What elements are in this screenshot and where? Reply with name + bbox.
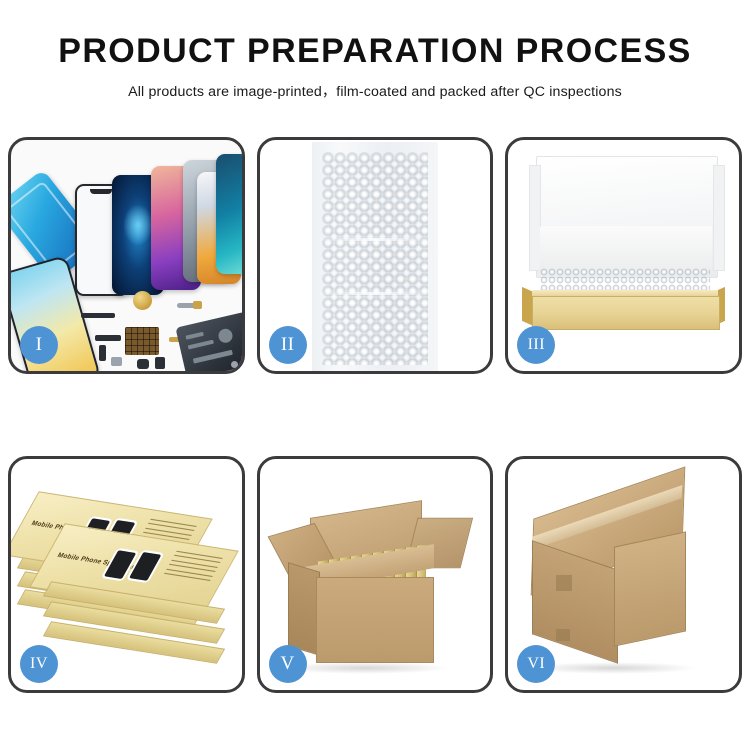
small-bracket-part-icon bbox=[99, 345, 106, 361]
page-subtitle: All products are image-printed，film-coat… bbox=[0, 81, 750, 101]
bubble-wrap-sleeve bbox=[312, 142, 438, 371]
camera-part-icon bbox=[137, 359, 149, 369]
page-title: PRODUCT PREPARATION PROCESS bbox=[0, 34, 750, 70]
spare-parts-group bbox=[81, 295, 241, 371]
wrap-seam-upper bbox=[320, 238, 430, 241]
sealed-shipping-carton bbox=[526, 489, 724, 675]
step-panel-2: II bbox=[257, 137, 494, 374]
box-front-kraft bbox=[532, 296, 720, 330]
step-panel-1: I bbox=[8, 137, 245, 374]
carton-right-face bbox=[614, 531, 686, 646]
step-panel-5: V bbox=[257, 456, 494, 693]
step-badge-1: I bbox=[20, 326, 58, 364]
wrap-seam-lower bbox=[320, 292, 430, 295]
box-spec-lines bbox=[162, 551, 223, 585]
phone-display-teal-icon bbox=[216, 154, 242, 274]
sim-tray-part-icon bbox=[111, 357, 122, 366]
logic-grid-part-icon bbox=[125, 327, 159, 355]
step-panel-6: VI bbox=[505, 456, 742, 693]
step-panel-4: Mobile Phone Spare Parts Mobile Phone Sp… bbox=[8, 456, 245, 693]
vibrator-part-icon bbox=[155, 357, 165, 369]
step-panel-3: III bbox=[505, 137, 742, 374]
step-badge-2: II bbox=[269, 326, 307, 364]
steps-grid: I II bbox=[8, 137, 742, 693]
carton-seam-lower bbox=[556, 629, 570, 641]
bubble-wrap-texture-back bbox=[328, 158, 428, 363]
step-badge-5: V bbox=[269, 645, 307, 683]
carton-front-face bbox=[316, 577, 434, 663]
speaker-part-icon bbox=[133, 291, 152, 310]
foam-insert bbox=[540, 226, 712, 272]
step-badge-4: IV bbox=[20, 645, 58, 683]
flex-cable-part-icon bbox=[81, 313, 115, 318]
product-preparation-infographic: PRODUCT PREPARATION PROCESS All products… bbox=[0, 0, 750, 750]
carton-seam-upper bbox=[556, 575, 572, 591]
open-shipping-carton bbox=[282, 495, 472, 673]
gold-connector-part-icon bbox=[193, 301, 202, 309]
bracket-part-icon bbox=[95, 335, 121, 341]
screw-part-icon bbox=[231, 361, 238, 368]
header: PRODUCT PREPARATION PROCESS All products… bbox=[0, 0, 750, 101]
